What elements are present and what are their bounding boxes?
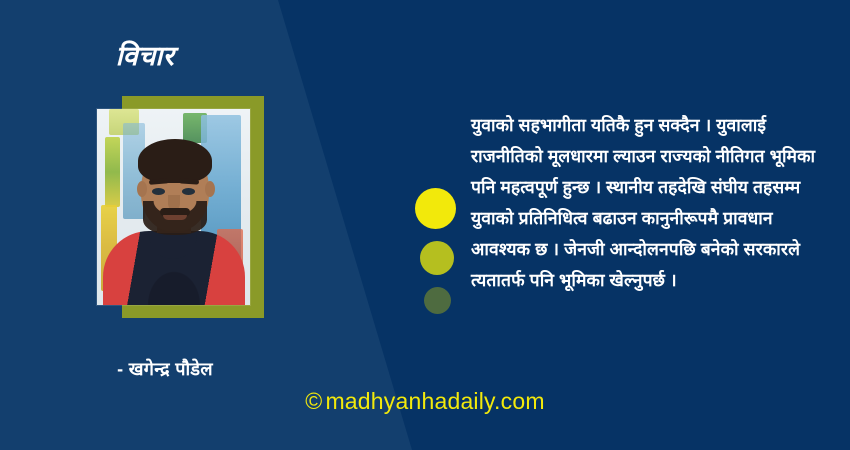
opinion-quote-card: विचार - खगेन्द्र पौडे [0,0,850,450]
subject-eye-right [182,188,195,195]
decorative-dot-small [424,287,451,314]
subject-eye-left [152,188,165,195]
subject-hair [138,139,212,183]
site-url-text: madhyanhadaily.com [325,388,544,414]
decorative-dot-medium [420,241,454,275]
photo-backdrop [97,109,250,305]
decorative-dot-large [415,188,456,229]
page-title: विचार [0,42,290,72]
copyright-icon: © [305,388,322,414]
quote-body-text: युवाको सहभागीता यतिकै हुन सक्दैन । युवाल… [471,110,829,296]
subject-mouth [163,215,187,220]
site-watermark: ©madhyanhadaily.com [0,388,850,415]
author-credit: - खगेन्द्र पौडेल [0,357,330,381]
subject-ear-left [137,181,147,197]
subject-ear-right [205,181,215,197]
portrait-photo [97,109,250,305]
backdrop-banner-2 [105,137,120,207]
